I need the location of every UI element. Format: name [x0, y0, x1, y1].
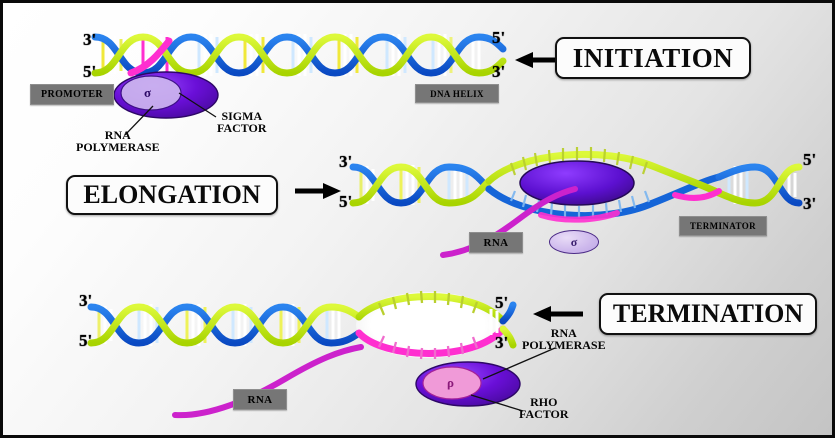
- dna-helix-initiation: [95, 34, 503, 76]
- transcription-diagram: 3' 5' 5' 3' PROMOTER DNA HELIX σ SIGMA F…: [0, 0, 835, 438]
- rna-label-elongation: RNA: [469, 232, 523, 253]
- dna-helix-termination: [91, 291, 513, 359]
- stage-pill-elongation[interactable]: ELONGATION: [66, 175, 278, 215]
- elongation-left-bottom-end: 5': [339, 193, 352, 210]
- termination-right-bottom-end: 3': [495, 334, 508, 351]
- rna-polymerase-initiation: [114, 72, 218, 118]
- termination-right-top-end: 5': [495, 294, 508, 311]
- rna-label-termination: RNA: [233, 389, 287, 410]
- termination-left-bottom-end: 5': [79, 332, 92, 349]
- rna-polymerase-label-initiation: RNA POLYMERASE: [76, 129, 160, 153]
- rna-polymerase-elongation: [520, 161, 634, 205]
- elongation-left-top-end: 3': [339, 153, 352, 170]
- stage-pill-initiation[interactable]: INITIATION: [555, 37, 751, 79]
- initiation-left-bottom-end: 5': [83, 63, 96, 80]
- initiation-left-top-end: 3': [83, 31, 96, 48]
- promoter-label: PROMOTER: [30, 84, 114, 105]
- stage-pill-termination[interactable]: TERMINATION: [599, 293, 817, 335]
- rho-glyph: ρ: [447, 376, 454, 389]
- arrow-right-icon-elongation: [295, 183, 341, 199]
- sigma-glyph-initiation: σ: [144, 86, 151, 99]
- termination-left-top-end: 3': [79, 292, 92, 309]
- elongation-right-top-end: 5': [803, 151, 816, 168]
- initiation-right-top-end: 5': [492, 29, 505, 46]
- elongation-right-bottom-end: 3': [803, 195, 816, 212]
- arrow-left-icon-termination: [533, 306, 583, 322]
- rna-polymerase-termination: [416, 362, 520, 406]
- sigma-factor-label: SIGMA FACTOR: [217, 110, 267, 134]
- initiation-right-bottom-end: 3': [492, 63, 505, 80]
- dna-helix-label: DNA HELIX: [415, 84, 499, 103]
- sigma-factor-released: σ: [549, 230, 599, 254]
- terminator-label: TERMINATOR: [679, 216, 767, 236]
- rna-polymerase-label-termination: RNA POLYMERASE: [522, 327, 606, 351]
- rho-factor-label: RHO FACTOR: [519, 396, 569, 420]
